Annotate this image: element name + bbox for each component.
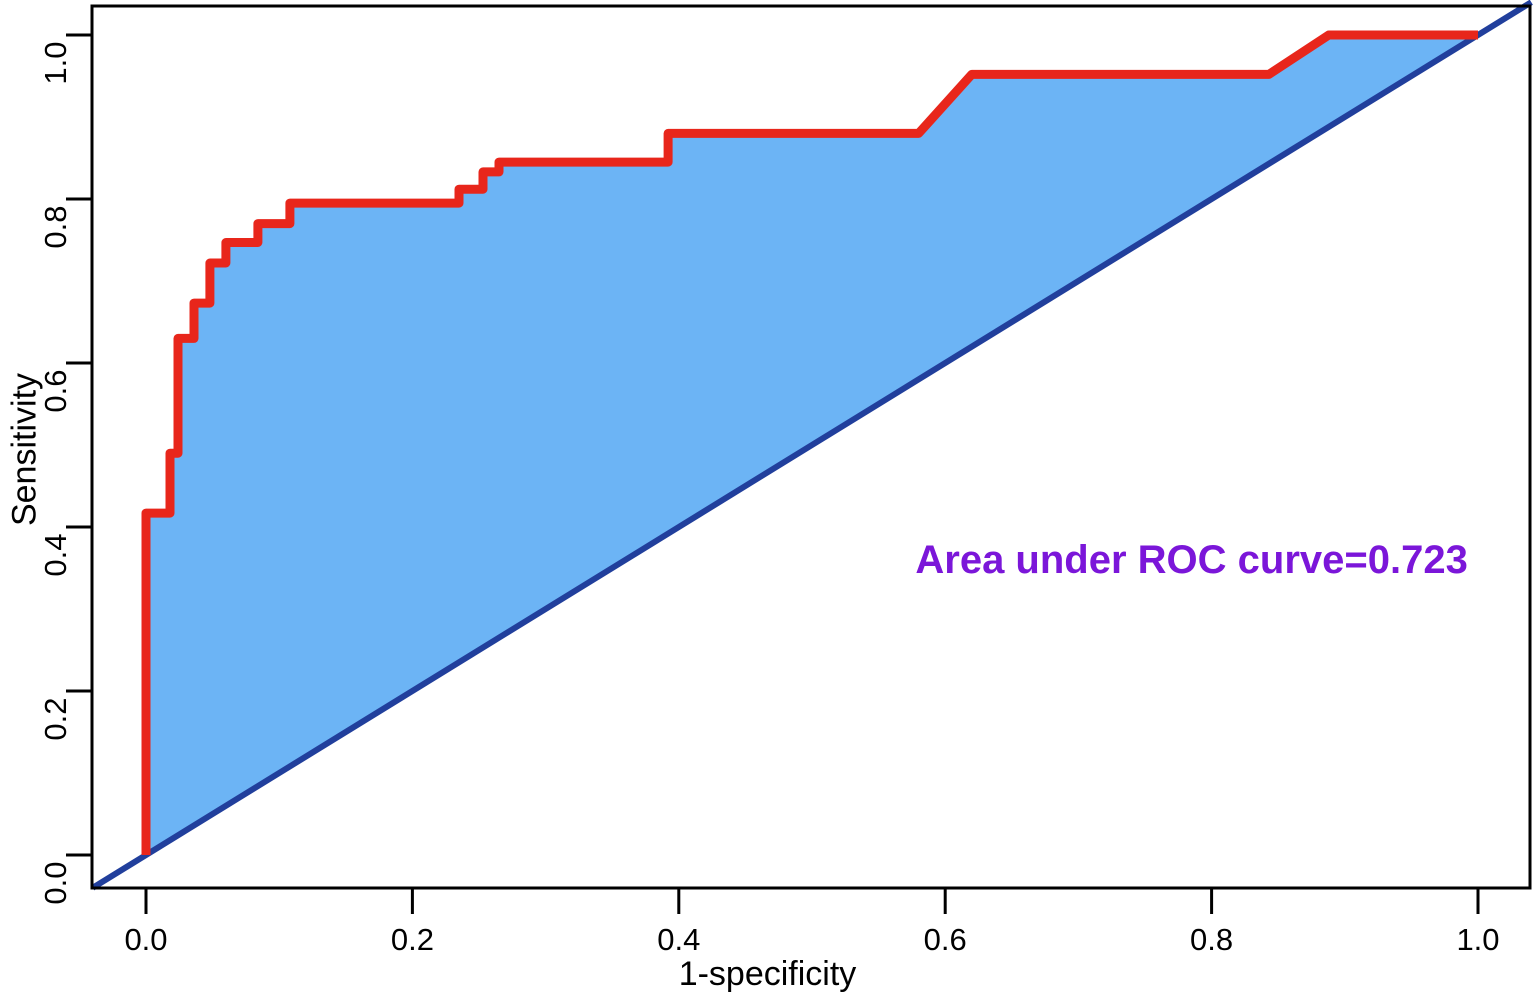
y-tick-label: 0.8: [38, 199, 74, 255]
y-tick-label: 1.0: [38, 35, 74, 91]
y-axis-title: Sensitivity: [6, 350, 45, 550]
x-tick-label: 0.0: [124, 922, 167, 958]
x-tick-label: 0.2: [391, 922, 434, 958]
x-tick-label: 0.8: [1190, 922, 1233, 958]
roc-plot-canvas: [0, 0, 1535, 1004]
x-tick-label: 0.6: [924, 922, 967, 958]
y-tick-label: 0.0: [38, 855, 74, 911]
auc-annotation-label: Area under ROC curve=0.723: [915, 538, 1467, 583]
x-axis-title: 1-specificity: [0, 955, 1535, 994]
x-tick-label: 1.0: [1456, 922, 1499, 958]
roc-curve-figure: 0.00.20.40.60.81.0 0.00.20.40.60.81.0 1-…: [0, 0, 1535, 1004]
y-tick-label: 0.2: [38, 691, 74, 747]
x-tick-label: 0.4: [657, 922, 700, 958]
x-axis-tick-marks: [146, 888, 1478, 914]
